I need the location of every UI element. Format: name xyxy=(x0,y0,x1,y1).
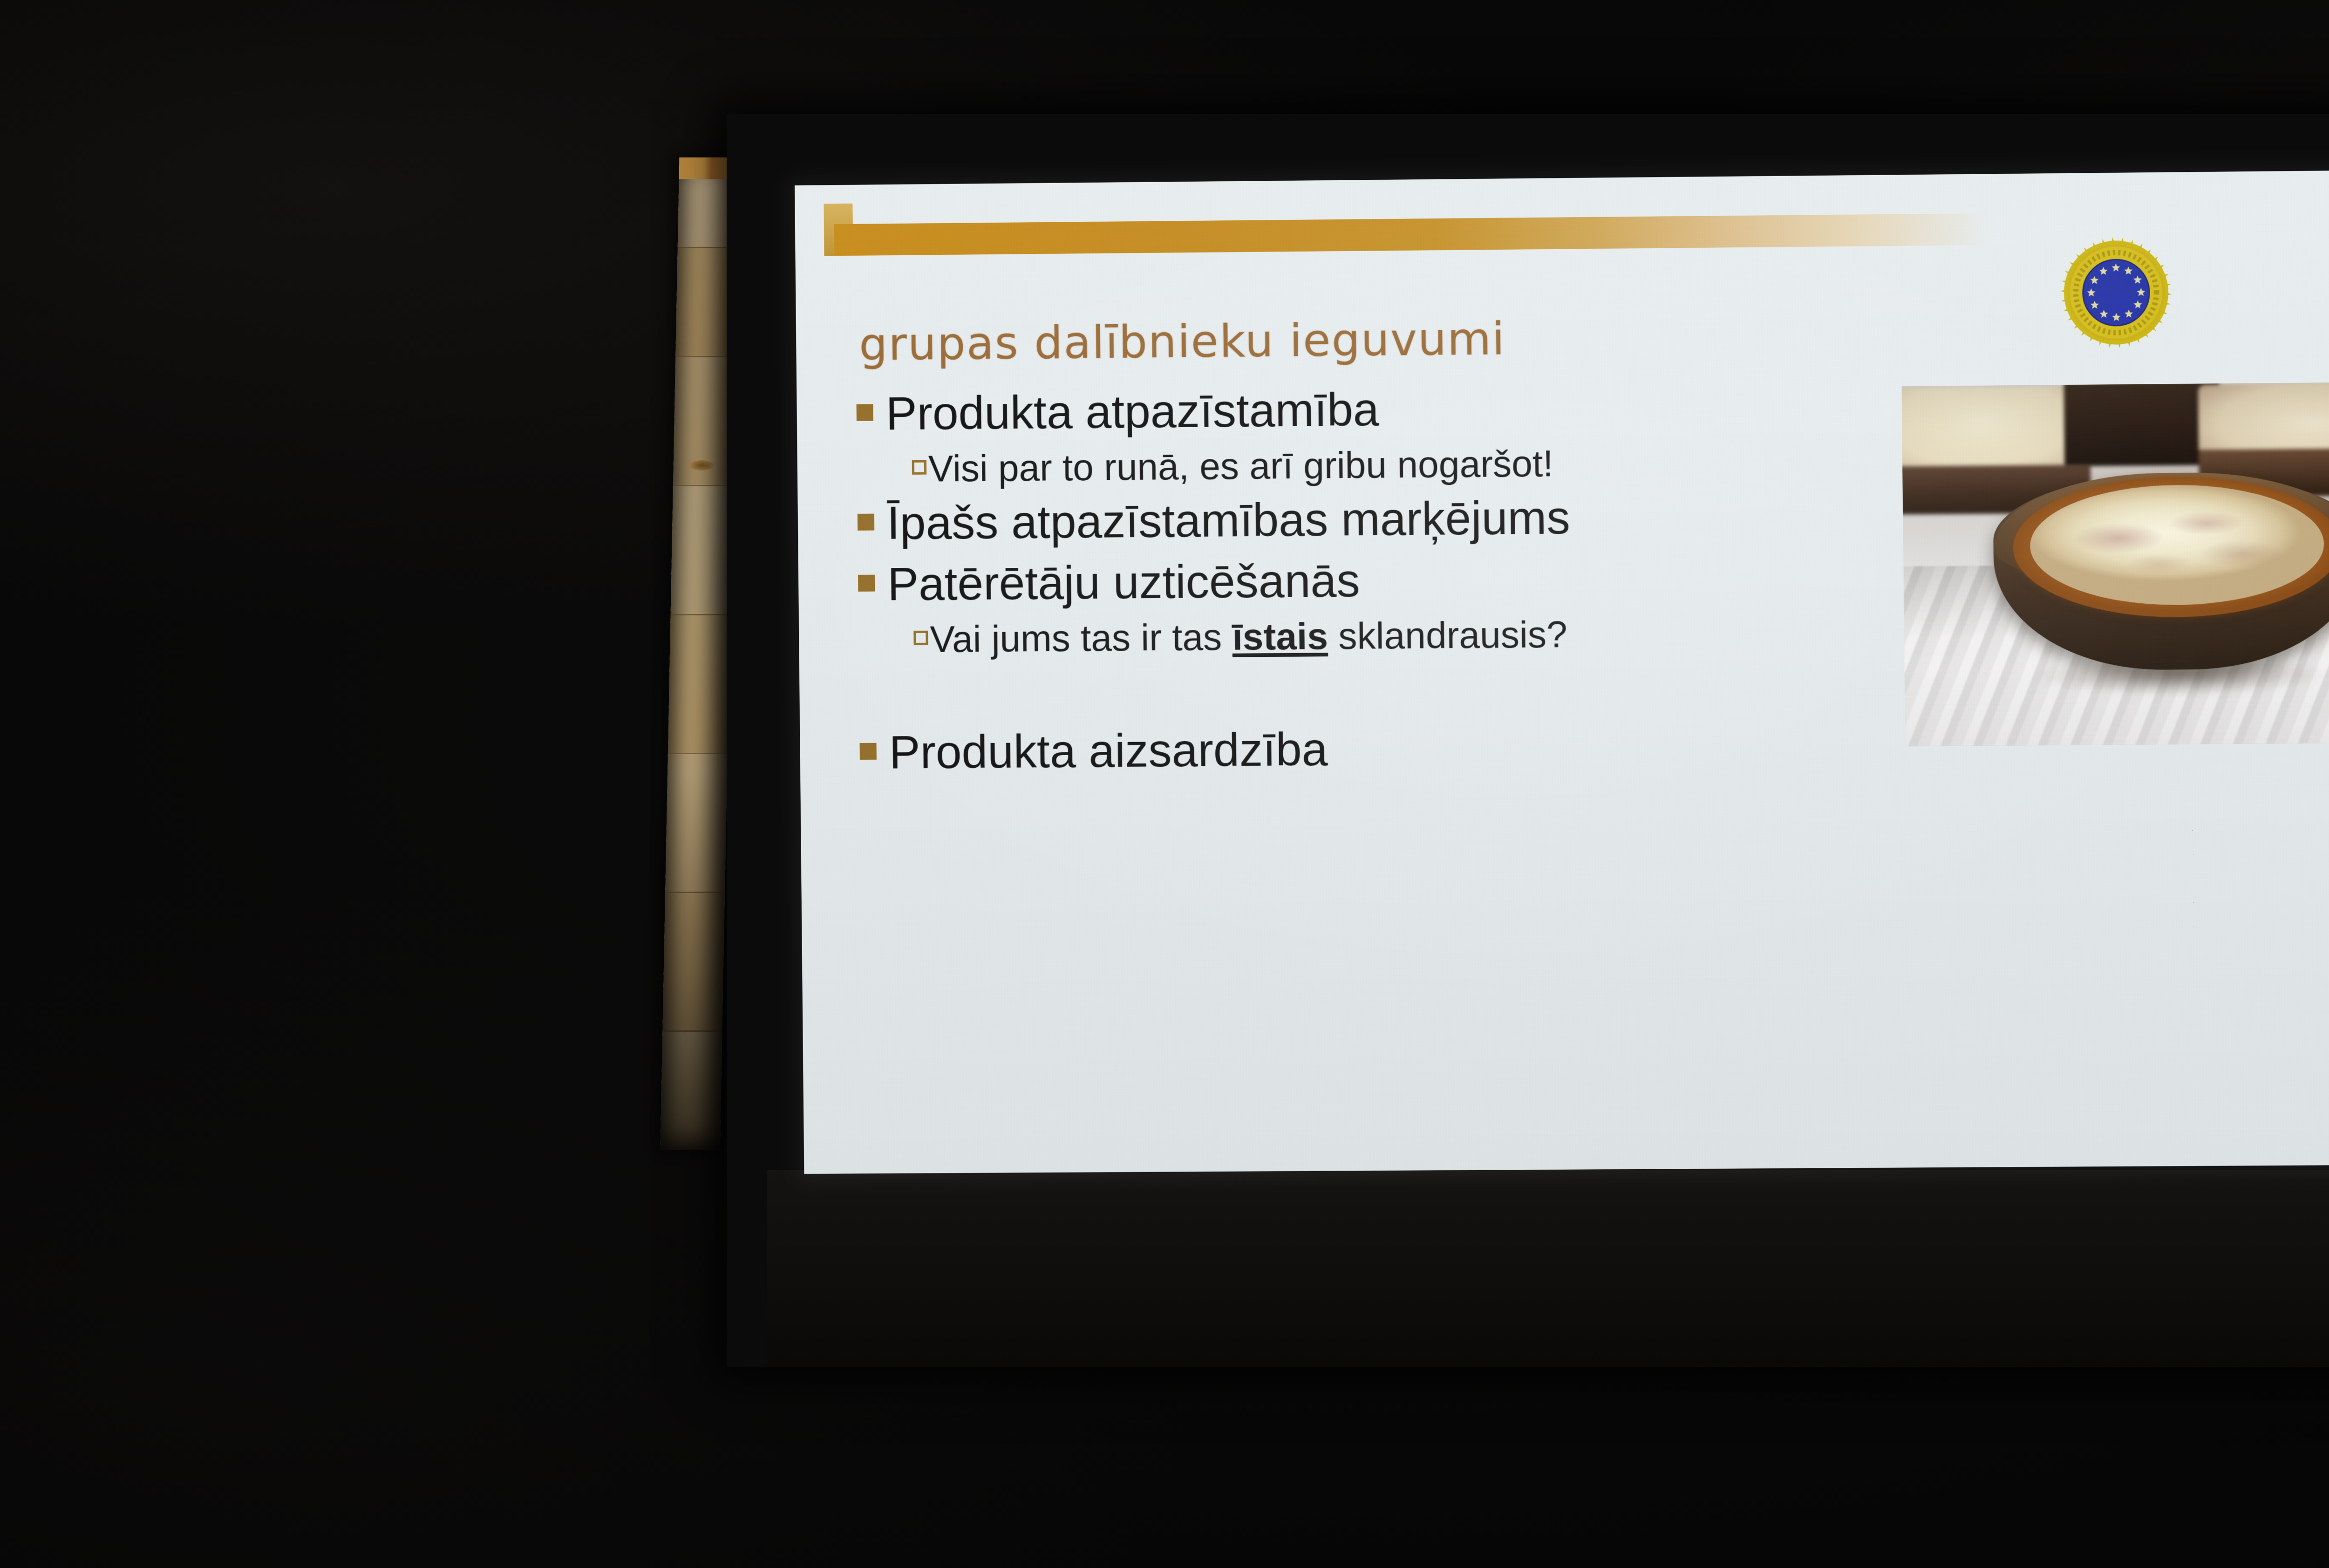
sub-bullet-text-after: sklandrausis? xyxy=(1328,614,1567,657)
projection-screen-unlit-area xyxy=(767,1170,2329,1366)
sub-bullet-item: Vai jums tas ir tas īstais sklandrausis? xyxy=(913,609,1855,663)
bullet-item: Produkta atpazīstamība xyxy=(856,376,1853,443)
sklandrausis-photo xyxy=(1902,382,2329,747)
sub-bullet-text: Visi par to runā, es arī gribu nogaršot! xyxy=(928,440,1554,492)
bullet-item: Īpašs atpazīstamības marķējums xyxy=(857,486,1854,553)
sub-bullet-item: Visi par to runā, es arī gribu nogaršot! xyxy=(912,438,1853,492)
bullet-text: Produkta atpazīstamība xyxy=(885,381,1379,443)
hollow-square-bullet-icon xyxy=(912,460,926,475)
filled-square-bullet-icon xyxy=(860,743,877,760)
bullet-item: Patērētāju uzticēšanās xyxy=(858,548,1855,614)
presentation-slide: grupas dalībnieku ieguvumi Produkta atpa… xyxy=(795,170,2329,1174)
photo-background-tart-middle xyxy=(2064,382,2220,466)
list-spacer xyxy=(859,658,1856,724)
filled-square-bullet-icon xyxy=(857,404,873,421)
hollow-square-bullet-icon xyxy=(913,631,928,645)
sub-bullet-text: Vai jums tas ir tas īstais sklandrausis? xyxy=(930,611,1567,663)
eu-protected-designation-seal-icon xyxy=(2056,233,2176,352)
slide-title: grupas dalībnieku ieguvumi xyxy=(859,313,1506,371)
bullet-list: Produkta atpazīstamība Visi par to runā,… xyxy=(856,376,1857,785)
bullet-text: Īpašs atpazīstamības marķējums xyxy=(886,489,1570,552)
filled-square-bullet-icon xyxy=(858,575,875,592)
bullet-text: Produkta aizsardzība xyxy=(889,721,1328,782)
room-background: grupas dalībnieku ieguvumi Produkta atpa… xyxy=(0,0,2329,1568)
accent-band xyxy=(834,213,1991,256)
bullet-item: Produkta aizsardzība xyxy=(859,716,1857,782)
filled-square-bullet-icon xyxy=(858,514,874,531)
sub-bullet-text-emphasis: īstais xyxy=(1232,615,1328,658)
bullet-text: Patērētāju uzticēšanās xyxy=(887,552,1360,614)
sub-bullet-text-before: Vai jums tas ir tas xyxy=(930,616,1233,660)
